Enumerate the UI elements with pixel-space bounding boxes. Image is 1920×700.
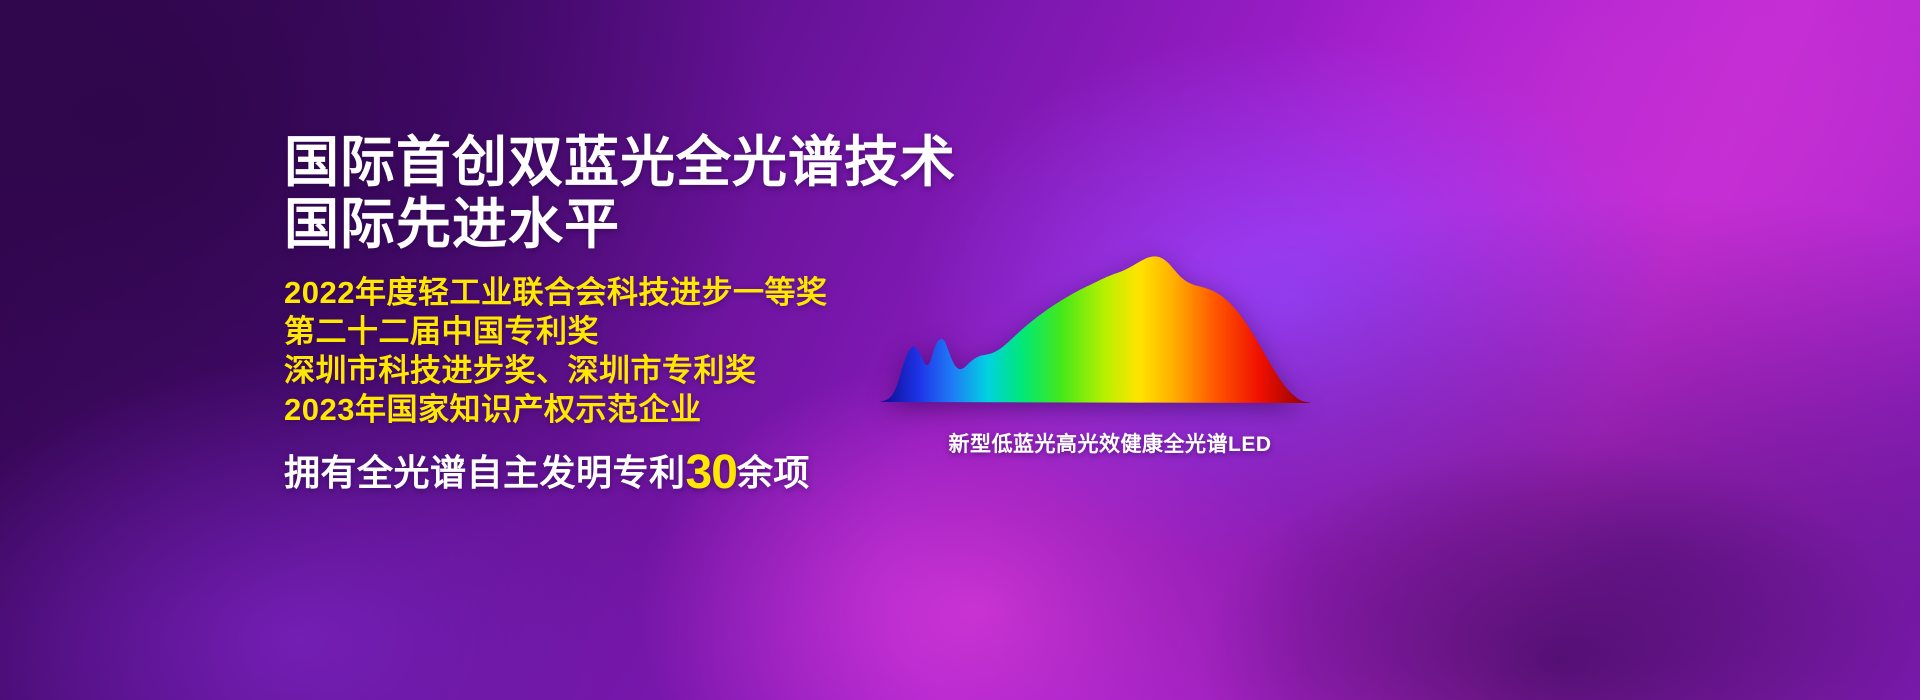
spectrum-chart <box>874 250 1334 410</box>
promo-banner: 国际首创双蓝光全光谱技术 国际先进水平 2022年度轻工业联合会科技进步一等奖 … <box>0 0 1920 700</box>
patent-suffix-label: 余项 <box>737 452 810 493</box>
spectrum-area-path <box>880 256 1311 403</box>
patent-prefix-label: 拥有全光谱自主发明专利 <box>284 452 686 493</box>
page-title: 国际首创双蓝光全光谱技术 <box>284 133 1044 191</box>
page-subtitle: 国际先进水平 <box>284 195 1044 253</box>
figure-caption: 新型低蓝光高光效健康全光谱LED <box>860 428 1360 458</box>
spectrum-figure: 新型低蓝光高光效健康全光谱LED <box>860 250 1360 458</box>
spectrum-curve-icon <box>874 250 1334 410</box>
patent-count-number: 30 <box>686 446 737 499</box>
